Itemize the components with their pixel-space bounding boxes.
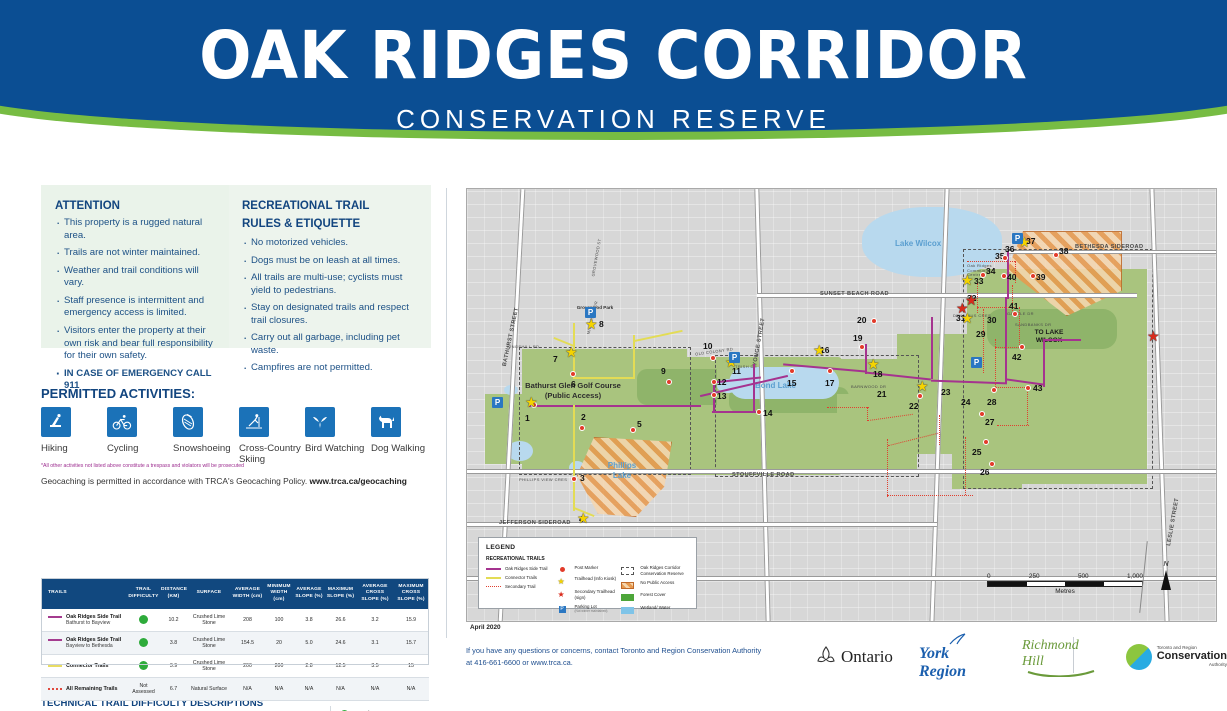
snowshoeing-icon xyxy=(173,407,203,437)
connector-trail xyxy=(573,405,575,511)
road-label: SANDBANKS DR xyxy=(1015,322,1051,327)
road-label: JEFFERSON SIDEROAD xyxy=(499,520,571,526)
post-marker-label: 24 xyxy=(961,397,970,407)
notice-panels: ATTENTION This property is a rugged natu… xyxy=(41,185,431,348)
trail-name: All Remaining Trails xyxy=(66,686,118,692)
red-star-icon: ★ xyxy=(556,591,571,599)
post-marker-label: 14 xyxy=(763,408,772,418)
activity-bird-watching: Bird Watching xyxy=(305,407,371,465)
rules-item: Carry out all garbage, including pet was… xyxy=(242,332,421,357)
legend-item-secondary: Secondary Trail xyxy=(486,584,556,590)
purple-line-icon xyxy=(486,568,501,570)
post-marker-label: 40 xyxy=(1007,272,1016,282)
legend-sublabel: (Not winter maintained) xyxy=(575,609,608,613)
secondary-trail xyxy=(887,439,888,497)
logo-label-small-bottom: Authority xyxy=(1157,663,1227,668)
rules-list: No motorized vehicles. Dogs must be on l… xyxy=(242,237,421,375)
avg-cross-cell: N/A xyxy=(357,678,393,701)
logo-label: Richmond Hill xyxy=(1022,638,1100,670)
cycling-icon xyxy=(107,407,137,437)
col-difficulty: TRAIL DIFFICULTY xyxy=(127,578,160,609)
post-marker xyxy=(630,427,636,433)
post-marker xyxy=(666,379,672,385)
col-max-slope: MAXIMUM SLOPE (%) xyxy=(324,578,357,609)
legend-label: Oak Ridges Side Trail xyxy=(505,566,547,572)
avg-cross-cell: 3.1 xyxy=(357,632,393,655)
parking-icon[interactable]: P xyxy=(1012,233,1023,244)
connector-trail xyxy=(573,377,633,379)
col-max-cross: MAXIMUM CROSS SLOPE (%) xyxy=(393,578,429,609)
table-row: Connector Trails 3.9 Crushed Lime Stone … xyxy=(41,655,429,678)
attention-item: This property is a rugged natural area. xyxy=(55,217,217,242)
rules-item: All trails are multi-use; cyclists must … xyxy=(242,272,421,297)
ontario-trillium-icon xyxy=(815,645,837,669)
trailhead-star-icon[interactable]: ★ xyxy=(813,343,826,357)
oak-ridges-side-trail xyxy=(1043,339,1081,341)
surface-cell: Crushed Lime Stone xyxy=(187,609,231,632)
rules-heading-line2: RULES & ETIQUETTE xyxy=(242,217,421,231)
purple-line-icon xyxy=(48,616,62,618)
logo-york-region: York Region xyxy=(919,633,996,681)
legend-label: Secondary Trail xyxy=(505,584,536,590)
page-title: OAK RIDGES CORRIDOR xyxy=(43,23,1184,89)
distance-cell: 3.8 xyxy=(160,632,187,655)
parking-icon[interactable]: P xyxy=(585,307,596,318)
post-marker-label: 12 xyxy=(717,377,726,387)
trail-name-cell: Oak Ridges Side TrailBathurst to Bayview xyxy=(41,609,127,632)
difficulty-cell: Not Assessed xyxy=(127,678,160,701)
legend-item-secondary-trailhead: ★Secondary Trailhead (sign) xyxy=(556,589,622,600)
post-marker xyxy=(871,318,877,324)
permitted-activities-row: Hiking Cycling Snowshoeing Cross-Country… xyxy=(41,407,431,465)
parking-icon[interactable]: P xyxy=(971,357,982,368)
map-date: April 2020 xyxy=(470,624,501,631)
min-width-cell: N/A xyxy=(264,678,294,701)
post-marker xyxy=(571,476,577,482)
post-marker xyxy=(989,461,995,467)
trailhead-star-icon[interactable]: ★ xyxy=(961,273,974,287)
column-divider xyxy=(446,188,447,638)
geocaching-note: Geocaching is permitted in accordance wi… xyxy=(41,476,407,486)
secondary-trail xyxy=(965,437,966,495)
post-marker-label: 39 xyxy=(1036,272,1045,282)
col-avg-cross: AVERAGE CROSS SLOPE (%) xyxy=(357,578,393,609)
road-sunset-beach-road xyxy=(757,293,1137,298)
permitted-activities-title: PERMITTED ACTIVITIES: xyxy=(41,386,195,401)
difficulty-cell xyxy=(127,632,160,655)
attention-item: Trails are not winter maintained. xyxy=(55,247,217,259)
post-marker xyxy=(570,371,576,377)
road-label: PHILLIPS VIEW CRES xyxy=(519,477,567,482)
activity-cycling: Cycling xyxy=(107,407,173,465)
max-cross-cell: N/A xyxy=(393,678,429,701)
min-width-cell: 20 xyxy=(264,632,294,655)
legend-label: Forest Cover xyxy=(640,592,665,598)
oak-ridges-side-trail xyxy=(1043,339,1045,387)
red-dotted-line-icon xyxy=(486,586,501,587)
legend-title: LEGEND xyxy=(486,544,689,551)
legend-label: Connector Trails xyxy=(505,575,537,581)
logo-ontario: Ontario xyxy=(815,645,893,669)
post-marker-label: 23 xyxy=(941,387,950,397)
blue-fill-icon xyxy=(621,607,636,614)
avg-slope-cell: 3.8 xyxy=(294,609,324,632)
lake-wilcox-label: Lake Wilcox xyxy=(895,239,941,248)
difficulty-cell xyxy=(127,655,160,678)
footer-contact: If you have any questions or concerns, c… xyxy=(466,645,796,669)
max-cross-cell: 15 xyxy=(393,655,429,678)
oak-ridges-side-trail xyxy=(931,317,933,379)
post-marker xyxy=(756,409,762,415)
post-marker-label: 17 xyxy=(825,378,834,388)
max-slope-cell: 24.6 xyxy=(324,632,357,655)
table-header-row: TRAILS TRAIL DIFFICULTY DISTANCE (KM) SU… xyxy=(41,578,429,609)
activities-footnote: *All other activities not listed above c… xyxy=(41,463,244,469)
avg-width-cell: N/A xyxy=(231,678,264,701)
orange-hatch-icon xyxy=(621,582,636,589)
hiking-icon xyxy=(41,407,71,437)
geocaching-link[interactable]: www.trca.ca/geocaching xyxy=(309,476,406,486)
legend-item-no-access: No Public Access xyxy=(621,580,689,589)
max-slope-cell: N/A xyxy=(324,678,357,701)
scale-bar-graphic xyxy=(987,581,1143,587)
activity-label: Cycling xyxy=(107,443,179,454)
post-marker xyxy=(1002,255,1008,261)
logo-trca: Toronto and Region Conservation Authorit… xyxy=(1126,644,1227,670)
post-marker-label: 15 xyxy=(787,378,796,388)
distance-cell: 10.2 xyxy=(160,609,187,632)
table-row: Oak Ridges Side TrailBayview to Bethesda… xyxy=(41,632,429,655)
trail-name-cell: Oak Ridges Side TrailBayview to Bethesda xyxy=(41,632,127,655)
legend-column-markers: Post Marker ★Trailhead (Info Kiosk) ★Sec… xyxy=(556,556,622,617)
legend-item-post-marker: Post Marker xyxy=(556,565,622,572)
post-marker-label: 3 xyxy=(580,473,585,483)
map-scale-bar: 0 250 500 1,000 Metres xyxy=(987,573,1143,595)
activity-cross-country-skiing: Cross-Country Skiing xyxy=(239,407,305,465)
trailhead-star-icon[interactable]: ★ xyxy=(916,379,929,393)
compass-north-label: N xyxy=(1161,561,1171,568)
trca-leaf-icon xyxy=(1126,644,1152,670)
legend-column-areas: Oak Ridges Corridor Conservation Reserve… xyxy=(621,556,689,617)
legend-subheading: RECREATIONAL TRAILS xyxy=(486,556,556,562)
avg-width-cell: 200 xyxy=(231,655,264,678)
surface-cell: Natural Surface xyxy=(187,678,231,701)
logo-richmond-hill: Richmond Hill xyxy=(1022,638,1100,677)
post-marker-label: 27 xyxy=(985,417,994,427)
road-bethesda-sideroad xyxy=(1007,250,1217,254)
avg-slope-cell: 5.0 xyxy=(294,632,324,655)
trailhead-star-icon[interactable]: ★ xyxy=(867,357,880,371)
road-label: SUNSET BEACH ROAD xyxy=(820,291,889,297)
red-dot-icon xyxy=(556,567,571,572)
secondary-trailhead-star-icon[interactable]: ★ xyxy=(1147,329,1160,343)
post-marker xyxy=(991,387,997,393)
legend-label: Trailhead (Info Kiosk) xyxy=(575,576,617,582)
post-marker xyxy=(1025,385,1031,391)
attention-panel: ATTENTION This property is a rugged natu… xyxy=(41,185,229,348)
col-distance: DISTANCE (KM) xyxy=(160,578,187,609)
post-marker-label: 13 xyxy=(717,391,726,401)
phillips-lake-label: Phillips Lake xyxy=(599,461,645,481)
scale-tick: 250 xyxy=(1029,573,1040,580)
secondary-trailhead-star-icon[interactable]: ★ xyxy=(956,301,969,315)
legend-item-side-trail: Oak Ridges Side Trail xyxy=(486,566,556,572)
col-min-width: MINIMUM WIDTH (cm) xyxy=(264,578,294,609)
activity-snowshoeing: Snowshoeing xyxy=(173,407,239,465)
scale-tick: 500 xyxy=(1078,573,1089,580)
activity-label: Dog Walking xyxy=(371,443,443,454)
post-marker-label: 7 xyxy=(553,354,558,364)
secondary-trail xyxy=(867,407,868,421)
activity-label: Hiking xyxy=(41,443,113,454)
post-marker-label: 2 xyxy=(581,412,586,422)
secondary-trail xyxy=(995,347,1021,348)
rules-heading-line1: RECREATIONAL TRAIL xyxy=(242,199,421,213)
legend-column-trails: RECREATIONAL TRAILS Oak Ridges Side Trai… xyxy=(486,556,556,617)
post-marker-label: 29 xyxy=(976,329,985,339)
post-marker-label: 41 xyxy=(1009,301,1018,311)
legend-item-parking: PParking Lot(Not winter maintained) xyxy=(556,604,622,614)
secondary-trail xyxy=(967,261,1015,262)
reserve-boundary xyxy=(963,249,1153,489)
poster-header: OAK RIDGES CORRIDOR CONSERVATION RESERVE xyxy=(0,0,1227,148)
partner-logos: Ontario York Region Richmond Hill Toront… xyxy=(815,638,1227,676)
rules-item: Dogs must be on leash at all times. xyxy=(242,255,421,267)
rules-item: Stay on designated trails and respect tr… xyxy=(242,302,421,327)
oak-ridges-side-trail xyxy=(753,364,755,412)
activity-hiking: Hiking xyxy=(41,407,107,465)
rules-panel: RECREATIONAL TRAIL RULES & ETIQUETTE No … xyxy=(229,185,431,348)
secondary-trail xyxy=(1027,387,1028,425)
col-surface: SURFACE xyxy=(187,578,231,609)
easiest-circle-icon xyxy=(139,638,148,647)
post-marker-label: 38 xyxy=(1059,246,1068,256)
avg-slope-cell: 2.8 xyxy=(294,655,324,678)
legend-label: Oak Ridges Corridor Conservation Reserve xyxy=(640,565,689,576)
trailhead-star-icon[interactable]: ★ xyxy=(585,317,598,331)
legend-item-trailhead: ★Trailhead (Info Kiosk) xyxy=(556,576,622,586)
attention-heading: ATTENTION xyxy=(55,199,217,213)
max-cross-cell: 15.9 xyxy=(393,609,429,632)
post-marker-label: 19 xyxy=(853,333,862,343)
post-marker-label: 22 xyxy=(909,401,918,411)
post-marker xyxy=(789,368,795,374)
compass-rose: N xyxy=(1161,561,1171,590)
poster-root: OAK RIDGES CORRIDOR CONSERVATION RESERVE… xyxy=(0,0,1227,711)
dog-walking-icon xyxy=(371,407,401,437)
min-width-cell: 100 xyxy=(264,609,294,632)
easiest-circle-icon xyxy=(139,661,148,670)
post-marker-label: 21 xyxy=(877,389,886,399)
post-marker xyxy=(710,355,716,361)
col-trails: TRAILS xyxy=(41,578,127,609)
purple-line-icon xyxy=(48,639,62,641)
rules-item: No motorized vehicles. xyxy=(242,237,421,249)
parking-icon[interactable]: P xyxy=(729,352,740,363)
post-marker-label: 5 xyxy=(637,419,642,429)
attention-list: This property is a rugged natural area. … xyxy=(55,217,217,392)
post-marker-label: 25 xyxy=(972,447,981,457)
secondary-trail xyxy=(827,407,869,408)
post-marker-label: 43 xyxy=(1033,383,1042,393)
oak-ridges-side-trail xyxy=(1005,297,1007,383)
avg-cross-cell: 3.5 xyxy=(357,655,393,678)
post-marker-label: 6 xyxy=(571,379,576,389)
post-marker-label: 34 xyxy=(986,266,995,276)
trail-segment: Bayview to Bethesda xyxy=(48,643,113,649)
trail-name: Connector Trails xyxy=(66,663,109,669)
max-slope-cell: 26.6 xyxy=(324,609,357,632)
legend-label: No Public Access xyxy=(640,580,674,586)
legend-label: Wetland/ Water xyxy=(640,605,670,611)
activity-dog-walking: Dog Walking xyxy=(371,407,437,465)
road-label: BETHESDA SIDEROAD xyxy=(1075,244,1143,250)
max-slope-cell: 12.5 xyxy=(324,655,357,678)
activity-label: Cross-Country Skiing xyxy=(239,443,311,465)
oak-ridges-side-trail xyxy=(712,411,756,413)
col-avg-width: AVERAGE WIDTH (cm) xyxy=(231,578,264,609)
col-avg-slope: AVERAGE SLOPE (%) xyxy=(294,578,324,609)
green-fill-icon xyxy=(621,594,636,601)
avg-cross-cell: 3.2 xyxy=(357,609,393,632)
surface-cell: Crushed Lime Stone xyxy=(187,632,231,655)
post-marker-label: 9 xyxy=(661,366,666,376)
yellow-star-icon: ★ xyxy=(556,578,571,586)
distance-cell: 3.9 xyxy=(160,655,187,678)
table-row: Oak Ridges Side TrailBathurst to Bayview… xyxy=(41,609,429,632)
yellow-line-icon xyxy=(486,577,501,579)
secondary-trail xyxy=(997,425,1029,426)
scale-tick: 1,000 xyxy=(1127,573,1143,580)
logo-label: Ontario xyxy=(841,647,893,667)
post-marker-label: 26 xyxy=(980,467,989,477)
scale-tick: 0 xyxy=(987,573,991,580)
post-marker xyxy=(827,368,833,374)
post-marker xyxy=(1012,311,1018,317)
post-marker-label: 30 xyxy=(987,315,996,325)
trail-segment: Bathurst to Bayview xyxy=(48,620,110,626)
york-region-mark-icon xyxy=(946,633,968,645)
avg-slope-cell: N/A xyxy=(294,678,324,701)
road-label: KINGSHILL RD xyxy=(507,344,539,349)
cross-country-skiing-icon xyxy=(239,407,269,437)
parking-icon[interactable]: P xyxy=(492,397,503,408)
richmond-hill-swoosh-icon xyxy=(1026,670,1096,677)
oak-ridges-side-trail xyxy=(529,405,701,407)
post-marker xyxy=(859,344,865,350)
trails-table: TRAILS TRAIL DIFFICULTY DISTANCE (KM) SU… xyxy=(41,578,429,701)
attention-item: Staff presence is intermittent and emerg… xyxy=(55,295,217,320)
north-arrow-icon xyxy=(1161,570,1171,590)
post-marker xyxy=(579,425,585,431)
road-label: STOUFFVILLE ROAD xyxy=(732,472,795,478)
trailhead-star-icon[interactable]: ★ xyxy=(525,395,538,409)
attention-item: Weather and trail conditions will vary. xyxy=(55,265,217,290)
legend-item-forest: Forest Cover xyxy=(621,592,689,601)
boundary-outline-icon xyxy=(621,567,636,575)
post-marker-label: 42 xyxy=(1012,352,1021,362)
legend-item-reserve: Oak Ridges Corridor Conservation Reserve xyxy=(621,565,689,576)
difficulty-divider xyxy=(330,706,331,711)
legend-label: Post Marker xyxy=(575,565,599,571)
secondary-trail xyxy=(887,495,973,496)
to-lake-wilcox-annotation: TO LAKE WILCOX xyxy=(1025,329,1073,345)
attention-item: Visitors enter the property at their own… xyxy=(55,325,217,362)
rules-item: Campfires are not permitted. xyxy=(242,362,421,374)
secondary-trail xyxy=(983,309,984,373)
legend-item-water: Wetland/ Water xyxy=(621,605,689,614)
activity-label: Snowshoeing xyxy=(173,443,245,454)
trail-map[interactable]: BATHURST STREET YONGE STREET LESLIE STRE… xyxy=(466,188,1217,622)
avg-width-cell: 208 xyxy=(231,609,264,632)
table-row: All Remaining Trails Not Assessed 6.7 Na… xyxy=(41,678,429,701)
legend-label: Parking Lot xyxy=(575,604,597,609)
surface-cell: Crushed Lime Stone xyxy=(187,655,231,678)
map-legend: LEGEND RECREATIONAL TRAILS Oak Ridges Si… xyxy=(478,537,697,609)
secondary-trail xyxy=(939,415,940,445)
scale-unit: Metres xyxy=(987,588,1143,595)
page-subtitle: CONSERVATION RESERVE xyxy=(0,104,1227,135)
min-width-cell: 200 xyxy=(264,655,294,678)
post-marker xyxy=(983,439,989,445)
easiest-circle-icon xyxy=(139,615,148,624)
footer-line-2: at 416-661-6600 or www.trca.ca. xyxy=(466,657,796,669)
difficulty-cell xyxy=(127,609,160,632)
yellow-line-icon xyxy=(48,665,62,667)
secondary-trail xyxy=(995,387,1027,388)
trail-name-cell: Connector Trails xyxy=(41,655,127,678)
distance-cell: 6.7 xyxy=(160,678,187,701)
avg-width-cell: 154.5 xyxy=(231,632,264,655)
secondary-trail xyxy=(1019,307,1020,347)
activity-label: Bird Watching xyxy=(305,443,377,454)
bird-watching-icon xyxy=(305,407,335,437)
trailhead-star-icon[interactable]: ★ xyxy=(577,511,590,525)
legend-label: Secondary Trailhead (sign) xyxy=(575,589,622,600)
post-marker-label: 20 xyxy=(857,315,866,325)
post-marker-label: 28 xyxy=(987,397,996,407)
max-cross-cell: 15.7 xyxy=(393,632,429,655)
post-marker-label: 1 xyxy=(525,413,530,423)
post-marker-label: 8 xyxy=(599,319,604,329)
trailhead-star-icon[interactable]: ★ xyxy=(565,345,578,359)
footer-line-1: If you have any questions or concerns, c… xyxy=(466,645,796,657)
secondary-trail xyxy=(995,339,996,387)
legend-item-connector: Connector Trails xyxy=(486,575,556,581)
post-marker xyxy=(1019,344,1025,350)
red-dotted-line-icon xyxy=(48,688,62,690)
parking-icon: P xyxy=(556,606,571,613)
post-marker-label: 10 xyxy=(703,341,712,351)
geocaching-text: Geocaching is permitted in accordance wi… xyxy=(41,476,309,486)
logo-label: York Region xyxy=(919,645,996,681)
trail-name-cell: All Remaining Trails xyxy=(41,678,127,701)
post-marker-label: 36 xyxy=(1005,244,1014,254)
